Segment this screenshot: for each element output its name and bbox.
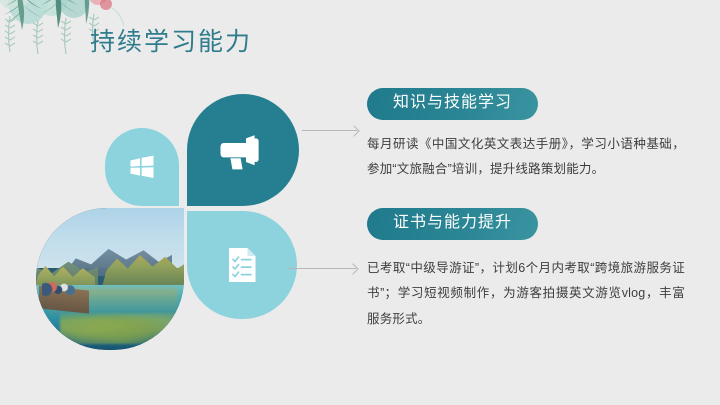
block-1-body: 每月研读《中国文化英文表达手册》，学习小语种基础，参加“文旅融合”培训，提升线路… — [367, 132, 685, 183]
checklist-document-icon — [227, 247, 257, 283]
block-2-body: 已考取“中级导游证”，计划6个月内考取“跨境旅游服务证书”；学习短视频制作，为游… — [367, 256, 685, 333]
petal-bottom-right[interactable] — [187, 211, 297, 319]
petal-top-right[interactable] — [187, 94, 299, 206]
block-2-pill-label[interactable]: 证书与能力提升 — [367, 208, 538, 240]
windows-panes-icon — [129, 155, 155, 179]
page-title: 持续学习能力 — [90, 22, 252, 58]
megaphone-icon — [220, 129, 266, 171]
slide-canvas: 持续学习能力 — [0, 0, 720, 405]
petal-cluster — [22, 85, 307, 345]
arrow-right-icon-2 — [288, 268, 356, 269]
block-1-pill-label[interactable]: 知识与技能学习 — [367, 88, 538, 120]
arrow-right-icon-1 — [302, 130, 357, 131]
content-block-2: 证书与能力提升 已考取“中级导游证”，计划6个月内考取“跨境旅游服务证书”；学习… — [367, 208, 687, 332]
content-block-1: 知识与技能学习 每月研读《中国文化英文表达手册》，学习小语种基础，参加“文旅融合… — [367, 88, 687, 183]
petal-bottom-left-photo[interactable] — [36, 208, 184, 350]
petal-top-left[interactable] — [105, 128, 179, 206]
lake-landscape-photo — [36, 208, 184, 350]
